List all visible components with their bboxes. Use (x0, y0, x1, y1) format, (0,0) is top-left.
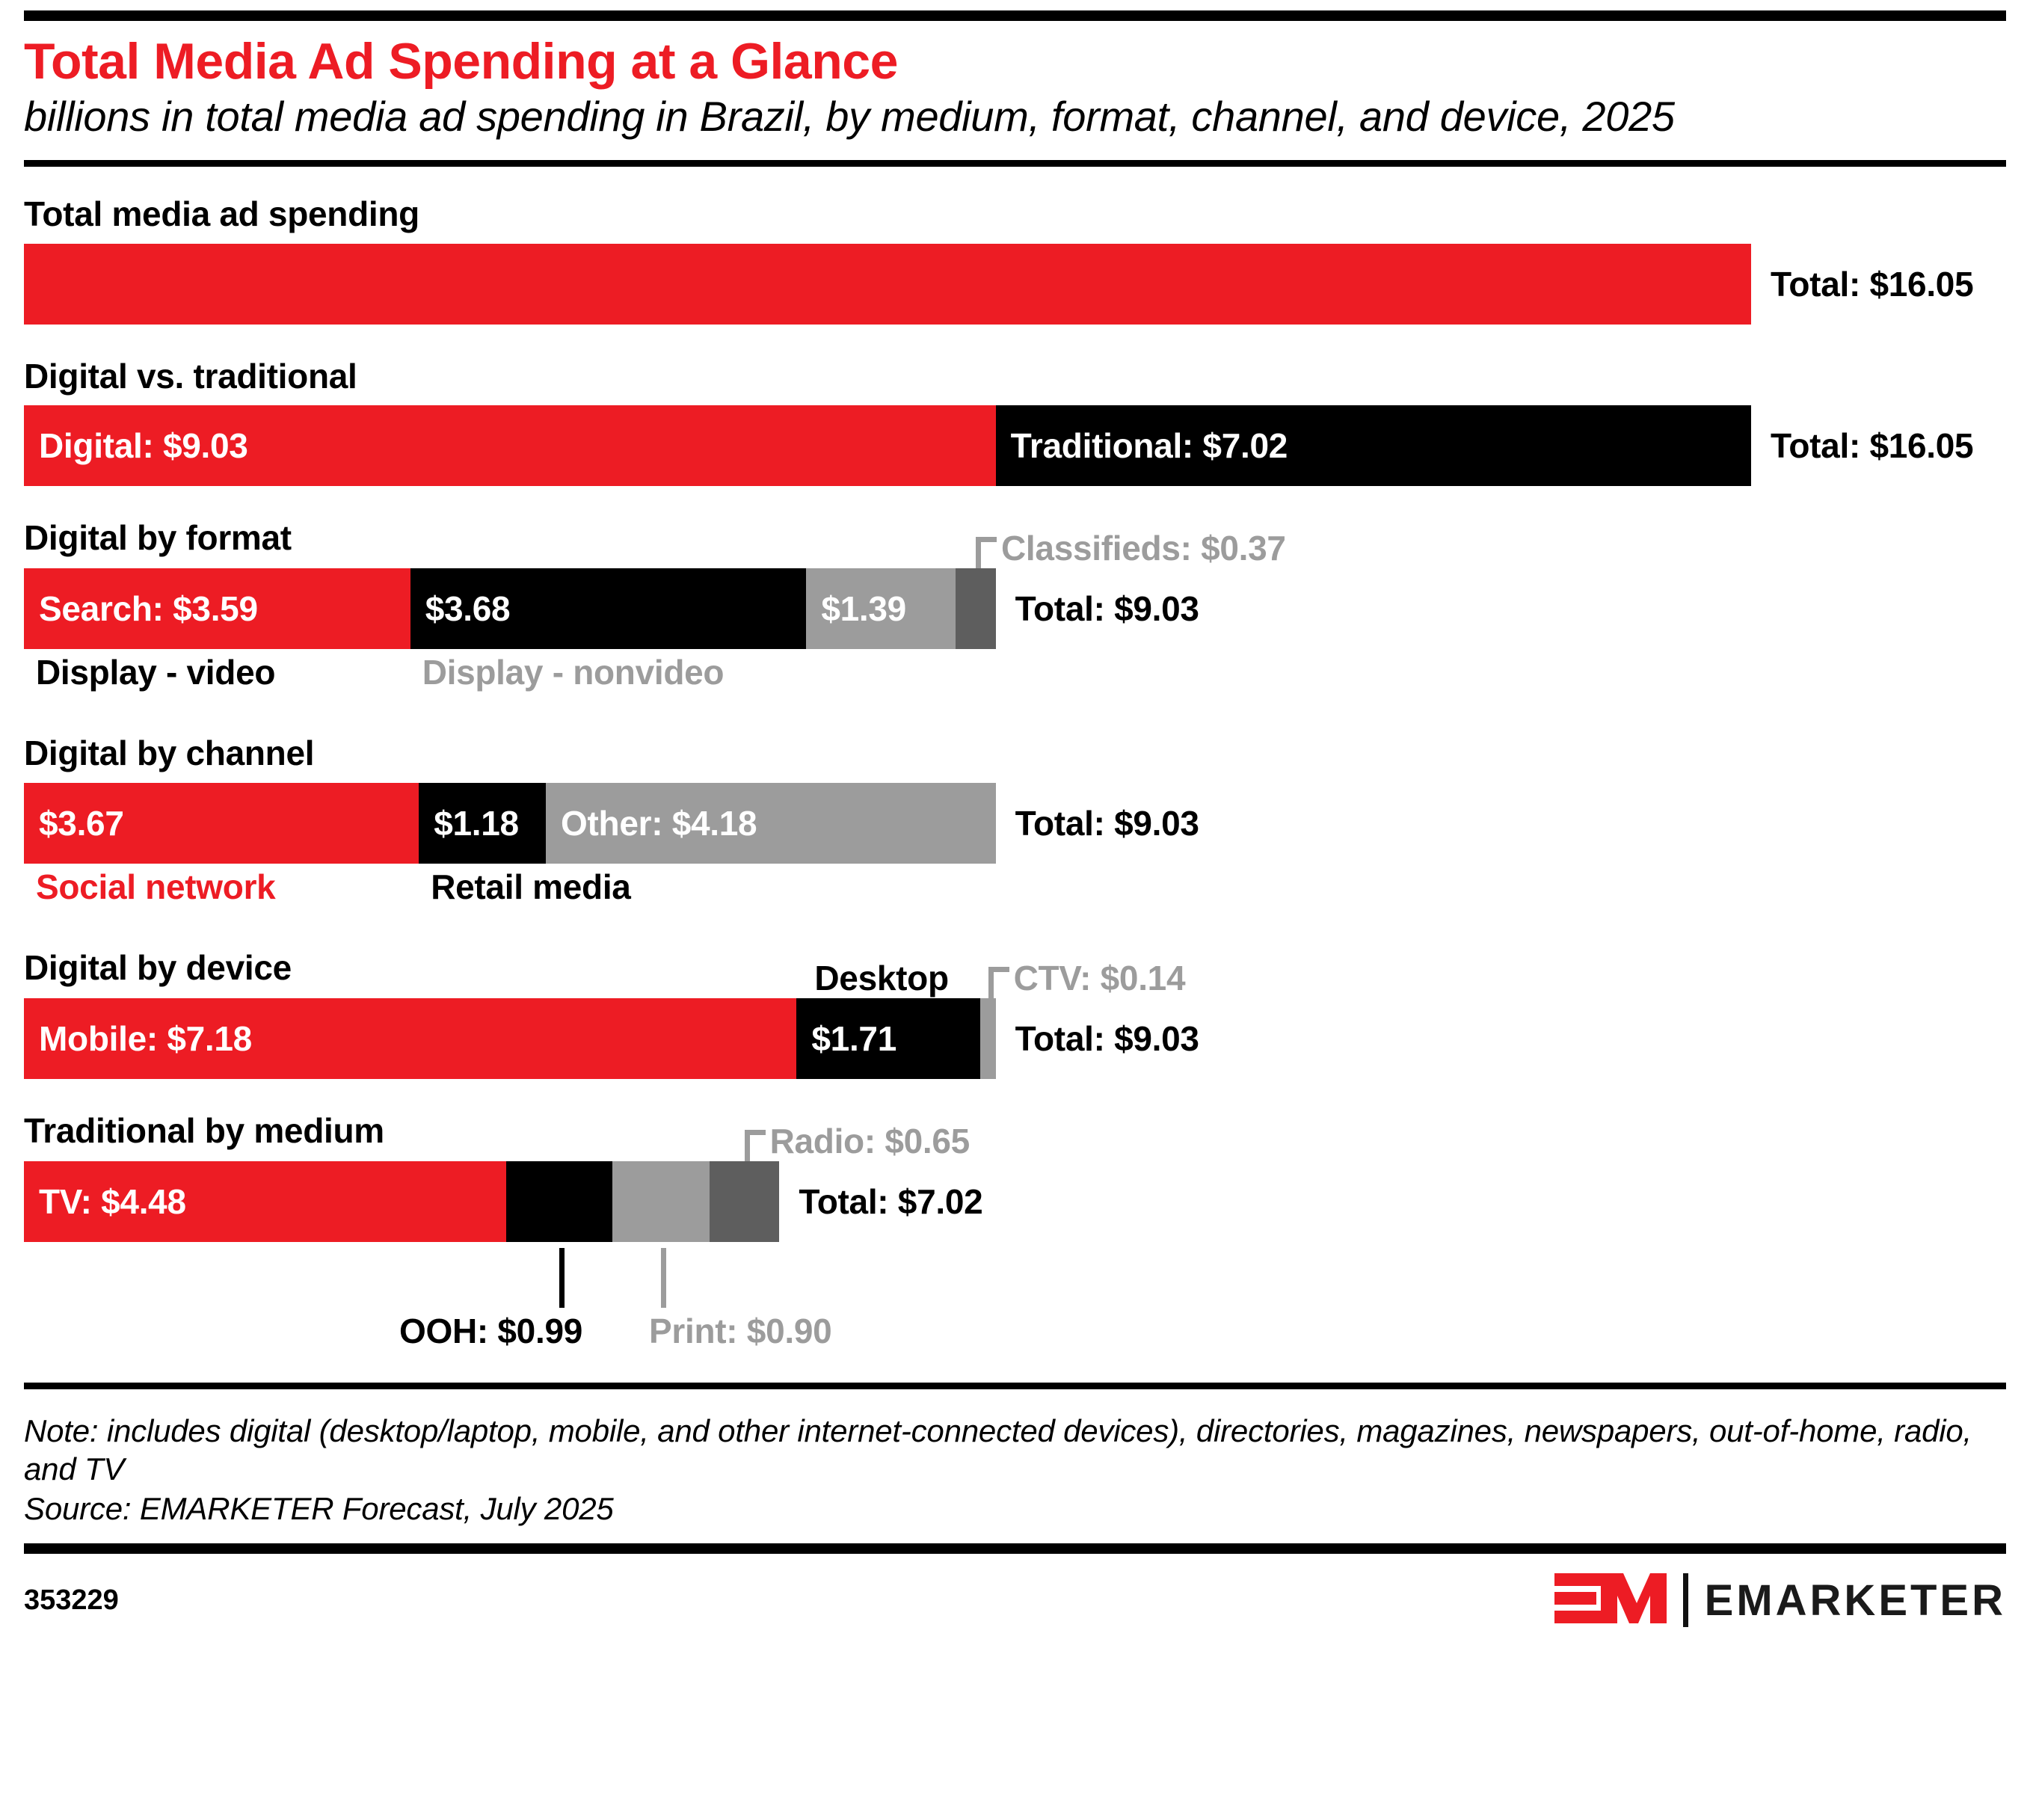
section-title: Digital by format (24, 519, 292, 557)
bar-segment (612, 1161, 710, 1242)
logo-wordmark: EMARKETER (1705, 1575, 2006, 1626)
bar-segment-label: Other: $4.18 (546, 803, 757, 843)
chart-section: Digital vs. traditionalDigital: $9.03Tra… (24, 357, 2006, 487)
bar-segment-label: $1.18 (419, 803, 519, 843)
bar-segment-label: Traditional: $7.02 (996, 425, 1288, 466)
callout-label-left: Desktop (814, 961, 948, 995)
bar-segment (956, 568, 995, 649)
bar-row: Digital: $9.03Traditional: $7.02Total: $… (24, 405, 2006, 486)
bar-total-label: Total: $16.05 (1751, 244, 1973, 325)
below-label: Social network (36, 870, 275, 904)
stacked-bar: Mobile: $7.18$1.71 (24, 998, 996, 1079)
bar-segment-label: $3.68 (410, 588, 511, 629)
bar-total-label: Total: $16.05 (1751, 405, 1973, 486)
section-title: Traditional by medium (24, 1112, 384, 1150)
em-mark-icon (1554, 1570, 1667, 1631)
bar-segment-label: TV: $4.48 (24, 1181, 186, 1222)
chart-section: Total media ad spendingTotal: $16.05 (24, 195, 2006, 325)
leader-line-vertical (559, 1248, 565, 1308)
bar-total-label: Total: $9.03 (996, 568, 1199, 649)
bar-segment (506, 1161, 612, 1242)
bar-segment-label: Mobile: $7.18 (24, 1018, 252, 1059)
stacked-bar: Search: $3.59$3.68$1.39 (24, 568, 996, 649)
chart-page: Total Media Ad Spending at a Glance bill… (0, 0, 2030, 1820)
bar-row: $3.67$1.18Other: $4.18Total: $9.03 (24, 783, 2006, 864)
notes-top-rule (24, 1383, 2006, 1389)
bar-segment: Traditional: $7.02 (996, 405, 1751, 486)
stacked-bar: $3.67$1.18Other: $4.18 (24, 783, 996, 864)
bar-row: Mobile: $7.18$1.71Total: $9.03 (24, 998, 2006, 1079)
bar-segment-label: $1.39 (806, 588, 906, 629)
bar-segment: $1.71 (796, 998, 980, 1079)
bar-segment: Other: $4.18 (546, 783, 996, 864)
bar-segment-label: Search: $3.59 (24, 588, 258, 629)
bar-segment: $1.18 (419, 783, 546, 864)
bar-row: TV: $4.48Total: $7.02 (24, 1161, 2006, 1242)
page-title: Total Media Ad Spending at a Glance (24, 34, 2006, 89)
bar-segment-label: Digital: $9.03 (24, 425, 248, 466)
chart-section: Digital by channel$3.67$1.18Other: $4.18… (24, 734, 2006, 916)
header-bottom-rule (24, 160, 2006, 167)
page-subtitle: billions in total media ad spending in B… (24, 93, 1998, 141)
below-label: Display - nonvideo (422, 655, 725, 689)
chart-section: CTV: $0.14DesktopDigital by deviceMobile… (24, 949, 2006, 1079)
bar-total-label: Total: $9.03 (996, 783, 1199, 864)
notes-block: Note: includes digital (desktop/laptop, … (24, 1412, 2006, 1528)
leader-line-horizontal (976, 537, 997, 542)
bar-segment: TV: $4.48 (24, 1161, 506, 1242)
chart-id: 353229 (24, 1584, 119, 1617)
bar-total-label: Total: $7.02 (779, 1161, 982, 1242)
bar-row: Total: $16.05 (24, 244, 2006, 325)
bar-total-label: Total: $9.03 (996, 998, 1199, 1079)
bar-segment (980, 998, 995, 1079)
section-title: Total media ad spending (24, 195, 2006, 233)
section-title: Digital vs. traditional (24, 357, 2006, 396)
header: Total Media Ad Spending at a Glance bill… (24, 0, 2006, 167)
stacked-bar: Digital: $9.03Traditional: $7.02 (24, 405, 1751, 486)
emarketer-logo: EMARKETER (1554, 1570, 2006, 1631)
bar-segment (710, 1161, 780, 1242)
callout-label: CTV: $0.14 (1014, 961, 1186, 995)
callout-label: Radio: $0.65 (770, 1124, 970, 1158)
stacked-bar: TV: $4.48 (24, 1161, 779, 1242)
footer-rule (24, 1543, 2006, 1554)
leader-line-horizontal (988, 967, 1009, 972)
footer: 353229 EMARKETER (24, 1570, 2006, 1631)
logo-divider (1683, 1573, 1688, 1627)
bar-segment: $1.39 (806, 568, 956, 649)
below-label: Display - video (36, 655, 275, 689)
below-label-row: Social networkRetail media (24, 870, 2006, 916)
source-text: Source: EMARKETER Forecast, July 2025 (24, 1489, 2006, 1528)
top-rule (24, 10, 2006, 21)
note-text: Note: includes digital (desktop/laptop, … (24, 1412, 2006, 1488)
below-label: Print: $0.90 (649, 1314, 831, 1348)
section-title: Digital by device (24, 949, 292, 987)
bar-segment: Mobile: $7.18 (24, 998, 796, 1079)
bar-segment: $3.67 (24, 783, 419, 864)
below-label: Retail media (431, 870, 630, 904)
bar-segment-label: $3.67 (24, 803, 124, 843)
bar-segment: $3.68 (410, 568, 807, 649)
below-label-row: OOH: $0.99Print: $0.90 (24, 1248, 2006, 1360)
callout-row: CTV: $0.14Desktop (24, 949, 2006, 998)
chart-section: Classifieds: $0.37Digital by formatSearc… (24, 519, 2006, 701)
below-label: OOH: $0.99 (399, 1314, 582, 1348)
chart-section: Radio: $0.65Traditional by mediumTV: $4.… (24, 1112, 2006, 1360)
section-title: Digital by channel (24, 734, 2006, 772)
bar-segment (24, 244, 1751, 325)
stacked-bar (24, 244, 1751, 325)
bar-segment-label: $1.71 (796, 1018, 896, 1059)
bar-segment: Search: $3.59 (24, 568, 410, 649)
sections-container: Total media ad spendingTotal: $16.05Digi… (24, 195, 2006, 1360)
below-label-row: Display - videoDisplay - nonvideo (24, 655, 2006, 701)
leader-line-horizontal (745, 1130, 766, 1135)
bar-row: Search: $3.59$3.68$1.39Total: $9.03 (24, 568, 2006, 649)
callout-label: Classifieds: $0.37 (1001, 531, 1286, 565)
leader-line-vertical (661, 1248, 666, 1308)
bar-segment: Digital: $9.03 (24, 405, 996, 486)
callout-row: Classifieds: $0.37 (24, 519, 2006, 568)
